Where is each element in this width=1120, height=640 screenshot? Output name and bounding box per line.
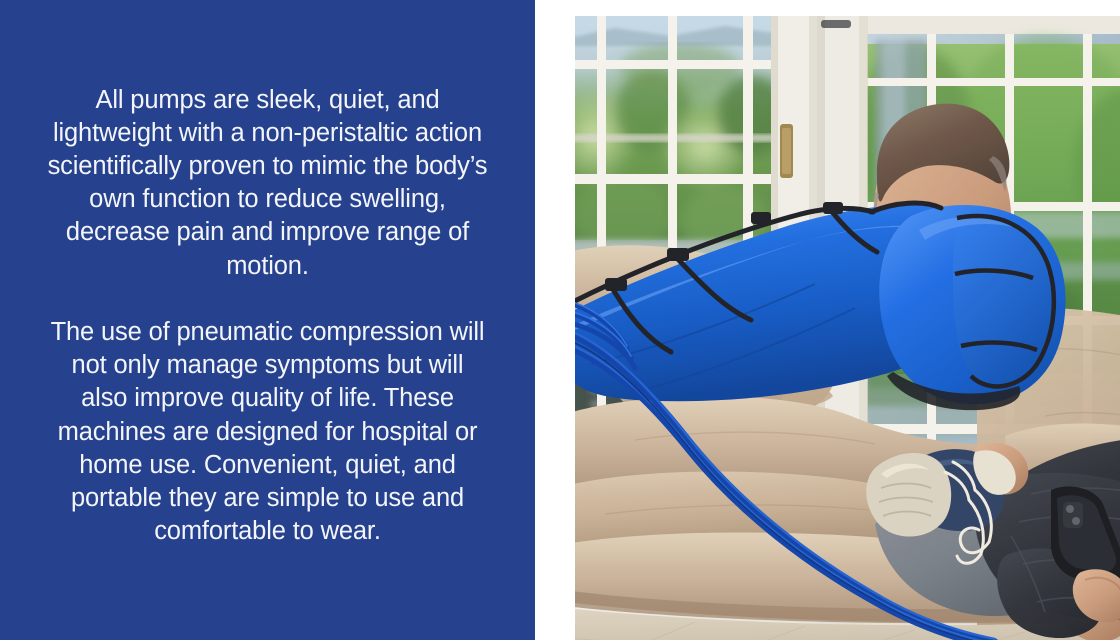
copy-block: All pumps are sleek, quiet, and lightwei…: [48, 84, 488, 557]
paragraph-pneumatic-compression-benefits: The use of pneumatic compression will no…: [48, 316, 488, 548]
photo-illustration: [575, 16, 1120, 640]
paragraph-pump-features: All pumps are sleek, quiet, and lightwei…: [48, 84, 488, 283]
slide-root: All pumps are sleek, quiet, and lightwei…: [0, 0, 1120, 640]
text-panel: All pumps are sleek, quiet, and lightwei…: [0, 0, 535, 640]
photo-light-overlay: [575, 16, 1120, 640]
lifestyle-photo: [575, 16, 1120, 640]
